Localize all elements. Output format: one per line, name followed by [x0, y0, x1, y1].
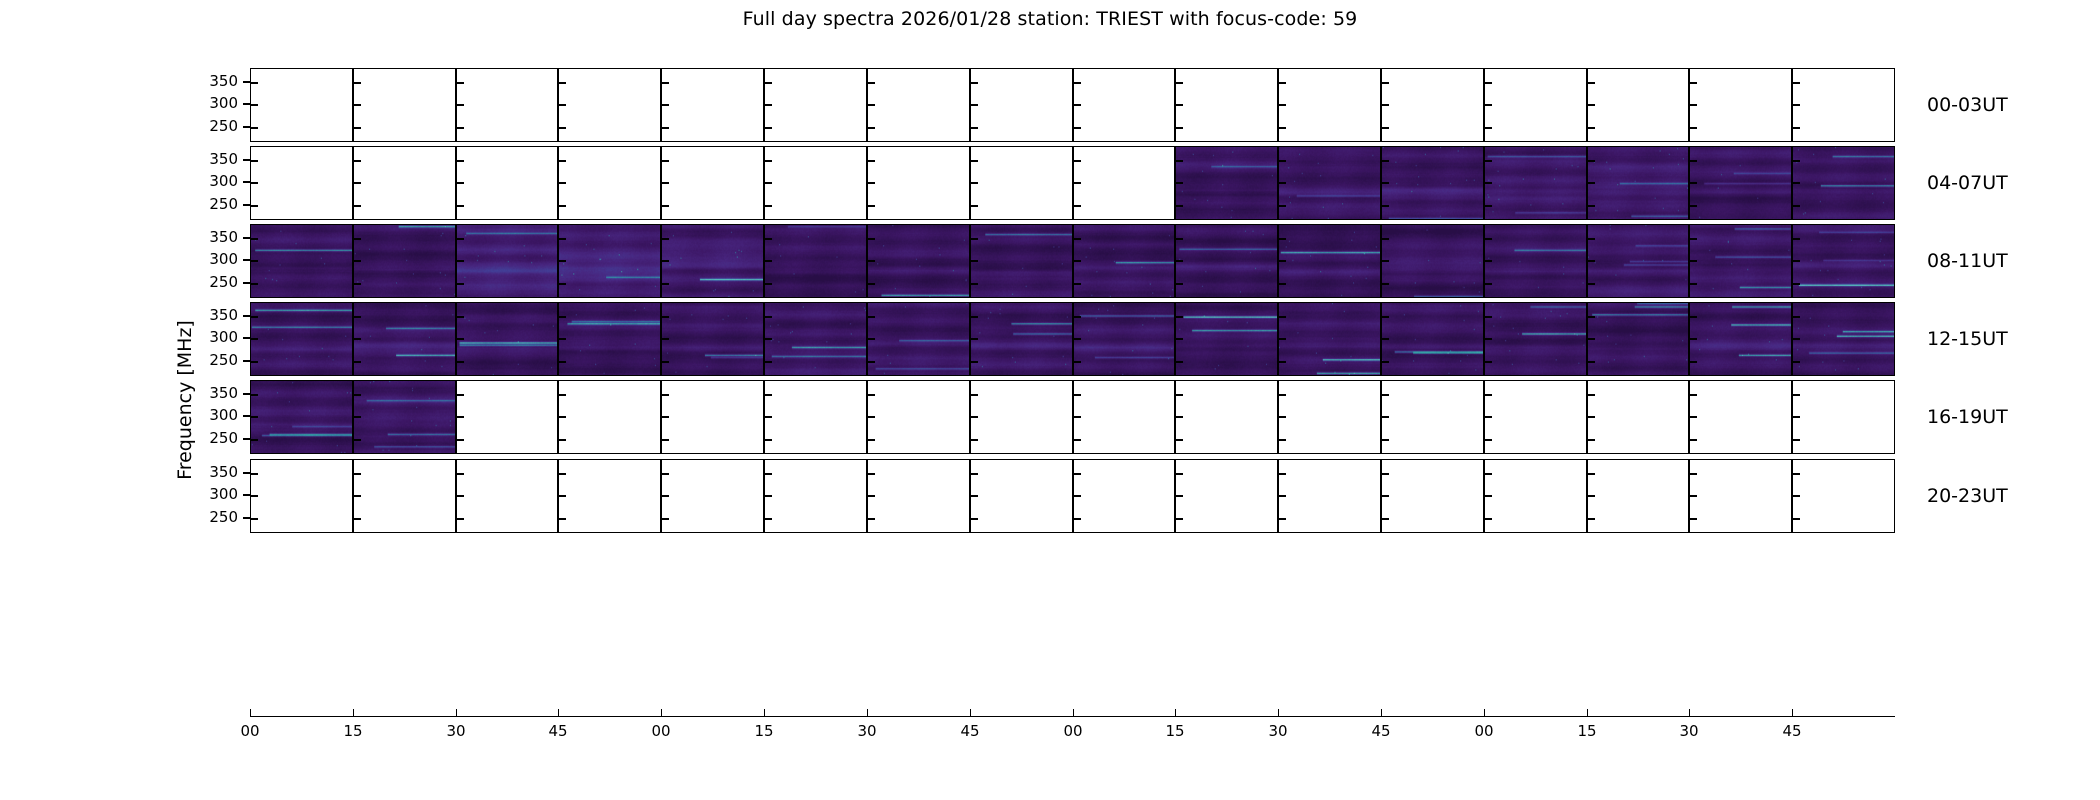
spectrogram-subpanel — [1381, 224, 1484, 298]
spectrogram-row — [250, 459, 1895, 533]
y-tick-mark — [251, 160, 258, 162]
y-tick-mark — [765, 127, 772, 129]
y-tick-mark — [1176, 439, 1183, 441]
y-tick-mark — [559, 439, 566, 441]
y-tick-mark — [765, 205, 772, 207]
y-tick-mark — [1588, 127, 1595, 129]
x-tick-label: 45 — [1371, 722, 1390, 740]
y-tick-mark — [354, 495, 361, 497]
y-tick-mark — [1793, 127, 1800, 129]
y-tick-mark — [559, 518, 566, 520]
y-tick-mark — [765, 495, 772, 497]
y-tick-mark — [1279, 518, 1286, 520]
spectrogram-subpanel — [867, 146, 970, 220]
y-tick-mark — [868, 104, 875, 106]
y-tick-mark — [1690, 160, 1697, 162]
y-tick-mark — [1690, 338, 1697, 340]
y-tick-mark — [662, 260, 669, 262]
spectrogram-subpanel — [1689, 68, 1792, 142]
spectrogram-subpanel — [1073, 68, 1175, 142]
spectrogram-subpanel — [1175, 224, 1278, 298]
spectrogram-subpanel — [1073, 459, 1175, 533]
spectrogram-subpanel — [970, 380, 1073, 454]
x-tick-mark — [867, 709, 868, 716]
y-tick-label: 250 — [209, 508, 238, 526]
y-tick-mark — [868, 338, 875, 340]
x-tick-mark — [1073, 709, 1074, 716]
y-tick-mark — [1382, 416, 1389, 418]
spectrogram-subpanel — [1484, 224, 1587, 298]
y-tick-mark — [765, 361, 772, 363]
x-axis-line — [250, 716, 1895, 717]
spectrogram-row — [250, 224, 1895, 298]
spectrogram-subpanel — [1792, 459, 1895, 533]
y-tick-mark — [1588, 316, 1595, 318]
spectrogram-image — [1588, 303, 1688, 375]
y-tick-mark — [354, 439, 361, 441]
x-tick-label: 00 — [1063, 722, 1082, 740]
y-tick-mark — [1382, 316, 1389, 318]
y-tick-mark — [971, 473, 978, 475]
spectrogram-image — [1382, 147, 1483, 219]
y-tick-mark — [1793, 283, 1800, 285]
y-tick-mark — [457, 495, 464, 497]
spectrogram-image — [1588, 147, 1688, 219]
y-tick-mark-outer — [243, 237, 250, 239]
y-tick-mark — [1588, 182, 1595, 184]
spectrogram-image — [1485, 147, 1586, 219]
y-tick-mark — [251, 182, 258, 184]
y-tick-label: 350 — [209, 463, 238, 481]
y-tick-mark — [1279, 205, 1286, 207]
y-tick-mark — [868, 495, 875, 497]
y-tick-mark — [559, 182, 566, 184]
spectrogram-subpanel — [764, 68, 867, 142]
y-tick-label: 350 — [209, 72, 238, 90]
y-tick-mark — [868, 283, 875, 285]
spectrogram-subpanel — [1278, 380, 1381, 454]
y-tick-mark — [1485, 182, 1492, 184]
spectrogram-subpanel — [456, 459, 558, 533]
x-tick-mark — [970, 709, 971, 716]
y-tick-mark — [1074, 260, 1081, 262]
y-tick-mark — [868, 416, 875, 418]
y-tick-mark — [559, 160, 566, 162]
y-tick-mark — [1793, 316, 1800, 318]
y-tick-mark — [559, 394, 566, 396]
y-tick-mark — [1690, 104, 1697, 106]
spectrogram-image — [765, 225, 866, 297]
y-tick-mark — [354, 473, 361, 475]
y-tick-mark — [1793, 416, 1800, 418]
y-tick-mark — [1074, 160, 1081, 162]
y-tick-mark-outer — [243, 438, 250, 440]
y-tick-mark — [765, 82, 772, 84]
y-tick-label: 300 — [209, 328, 238, 346]
y-tick-mark — [971, 238, 978, 240]
y-tick-mark — [1485, 104, 1492, 106]
y-tick-mark — [1793, 338, 1800, 340]
y-tick-mark — [1074, 182, 1081, 184]
y-tick-mark — [457, 518, 464, 520]
y-tick-mark — [1588, 473, 1595, 475]
y-tick-mark — [1588, 260, 1595, 262]
y-tick-mark — [559, 104, 566, 106]
spectrogram-image — [559, 303, 660, 375]
spectrogram-subpanel — [1073, 146, 1175, 220]
y-tick-mark — [457, 260, 464, 262]
y-tick-mark — [1382, 473, 1389, 475]
spectrogram-image — [559, 225, 660, 297]
x-tick-label: 45 — [1782, 722, 1801, 740]
y-tick-mark-outer — [243, 393, 250, 395]
row-time-label: 00-03UT — [1927, 94, 2008, 116]
y-tick-mark — [559, 338, 566, 340]
spectrogram-subpanel — [250, 459, 353, 533]
spectrogram-subpanel — [250, 146, 353, 220]
y-tick-mark — [251, 82, 258, 84]
x-tick-label: 00 — [651, 722, 670, 740]
y-tick-mark — [662, 473, 669, 475]
spectrogram-subpanel — [970, 224, 1073, 298]
y-tick-mark — [1690, 439, 1697, 441]
spectrogram-image — [971, 303, 1072, 375]
x-tick-mark — [250, 709, 251, 716]
spectrogram-image — [765, 303, 866, 375]
spectrogram-subpanel — [661, 146, 764, 220]
spectrogram-subpanel — [1792, 68, 1895, 142]
y-tick-mark — [457, 416, 464, 418]
spectrogram-subpanel — [1175, 68, 1278, 142]
y-tick-mark — [1588, 439, 1595, 441]
y-tick-mark — [1690, 127, 1697, 129]
spectrogram-subpanel — [353, 146, 456, 220]
spectrogram-subpanel — [353, 459, 456, 533]
figure-canvas: Full day spectra 2026/01/28 station: TRI… — [0, 0, 2100, 800]
y-tick-mark — [1382, 260, 1389, 262]
y-tick-mark — [971, 104, 978, 106]
spectrogram-subpanel — [1278, 146, 1381, 220]
y-tick-mark — [457, 473, 464, 475]
y-tick-mark — [868, 361, 875, 363]
y-tick-label: 300 — [209, 172, 238, 190]
y-tick-mark — [662, 416, 669, 418]
y-tick-mark — [251, 283, 258, 285]
y-tick-mark — [1382, 361, 1389, 363]
spectrogram-subpanel — [1689, 380, 1792, 454]
y-tick-mark — [1074, 205, 1081, 207]
spectrogram-image — [1382, 225, 1483, 297]
y-tick-mark — [559, 283, 566, 285]
y-tick-mark — [1176, 182, 1183, 184]
y-tick-label: 350 — [209, 150, 238, 168]
y-tick-mark — [765, 260, 772, 262]
y-tick-mark — [1382, 518, 1389, 520]
y-tick-mark — [971, 283, 978, 285]
y-tick-mark — [1690, 495, 1697, 497]
y-tick-label: 250 — [209, 351, 238, 369]
spectrogram-subpanel — [353, 380, 456, 454]
y-tick-mark — [971, 361, 978, 363]
y-tick-label: 250 — [209, 195, 238, 213]
y-tick-mark — [1793, 473, 1800, 475]
spectrogram-subpanel — [867, 68, 970, 142]
y-tick-mark — [1382, 238, 1389, 240]
y-tick-mark — [1279, 260, 1286, 262]
y-tick-mark — [1588, 518, 1595, 520]
y-tick-mark — [251, 316, 258, 318]
y-tick-mark — [1074, 495, 1081, 497]
y-tick-mark — [971, 394, 978, 396]
y-tick-mark — [1176, 283, 1183, 285]
y-tick-mark-outer — [243, 259, 250, 261]
y-tick-mark-outer — [243, 181, 250, 183]
y-tick-mark — [559, 495, 566, 497]
y-tick-mark — [251, 473, 258, 475]
x-tick-mark — [1792, 709, 1793, 716]
y-tick-label: 250 — [209, 429, 238, 447]
y-tick-mark — [1279, 473, 1286, 475]
y-tick-mark — [559, 205, 566, 207]
y-tick-mark — [251, 439, 258, 441]
spectrogram-subpanel — [1278, 459, 1381, 533]
y-tick-mark — [662, 361, 669, 363]
y-tick-mark — [971, 439, 978, 441]
y-tick-mark — [1485, 439, 1492, 441]
spectrogram-subpanel — [1381, 68, 1484, 142]
row-time-label: 08-11UT — [1927, 250, 2008, 272]
spectrogram-image — [251, 303, 352, 375]
y-tick-mark — [251, 104, 258, 106]
spectrogram-subpanel — [1381, 302, 1484, 376]
y-tick-mark — [868, 238, 875, 240]
y-tick-label: 300 — [209, 406, 238, 424]
y-tick-mark — [1485, 283, 1492, 285]
spectrogram-subpanel — [1175, 459, 1278, 533]
y-tick-mark — [251, 518, 258, 520]
y-tick-mark — [1485, 238, 1492, 240]
y-tick-mark — [1382, 205, 1389, 207]
y-tick-mark — [1588, 283, 1595, 285]
y-tick-mark-outer — [243, 282, 250, 284]
y-tick-mark — [559, 260, 566, 262]
y-tick-mark — [1074, 82, 1081, 84]
spectrogram-row — [250, 302, 1895, 376]
spectrogram-subpanel — [661, 380, 764, 454]
x-tick-label: 00 — [240, 722, 259, 740]
y-axis-label: Frequency [MHz] — [174, 320, 196, 480]
y-tick-mark — [1793, 160, 1800, 162]
x-tick-label: 30 — [446, 722, 465, 740]
y-tick-mark — [457, 316, 464, 318]
spectrogram-subpanel — [1175, 302, 1278, 376]
y-tick-mark — [251, 495, 258, 497]
spectrogram-image — [1176, 225, 1277, 297]
y-tick-mark — [1793, 394, 1800, 396]
y-tick-mark — [765, 104, 772, 106]
spectrogram-subpanel — [456, 146, 558, 220]
y-tick-mark — [1588, 361, 1595, 363]
row-time-label: 20-23UT — [1927, 485, 2008, 507]
spectrogram-subpanel — [456, 68, 558, 142]
y-tick-mark — [868, 182, 875, 184]
spectrogram-image — [1382, 303, 1483, 375]
page-title: Full day spectra 2026/01/28 station: TRI… — [0, 8, 2100, 30]
y-tick-mark — [354, 205, 361, 207]
y-tick-mark — [1176, 316, 1183, 318]
y-tick-label: 350 — [209, 306, 238, 324]
x-tick-label: 15 — [1165, 722, 1184, 740]
spectrogram-image — [457, 303, 557, 375]
y-tick-mark — [1793, 205, 1800, 207]
spectrogram-subpanel — [1175, 146, 1278, 220]
y-tick-mark — [1485, 160, 1492, 162]
spectrogram-image — [1485, 225, 1586, 297]
y-tick-mark — [662, 160, 669, 162]
y-tick-mark — [354, 182, 361, 184]
y-tick-mark — [971, 338, 978, 340]
y-tick-mark — [1690, 416, 1697, 418]
spectrogram-image — [971, 225, 1072, 297]
spectrogram-image — [1588, 225, 1688, 297]
y-tick-mark — [971, 182, 978, 184]
y-tick-mark — [1279, 283, 1286, 285]
y-tick-mark — [457, 82, 464, 84]
spectrogram-subpanel — [558, 380, 661, 454]
spectrogram-image — [868, 303, 969, 375]
y-tick-mark — [251, 260, 258, 262]
y-tick-label: 300 — [209, 485, 238, 503]
y-tick-mark — [1793, 495, 1800, 497]
spectrogram-row — [250, 380, 1895, 454]
y-tick-mark — [1176, 394, 1183, 396]
y-tick-mark — [662, 495, 669, 497]
y-tick-mark — [354, 283, 361, 285]
spectrogram-subpanel — [970, 146, 1073, 220]
spectrogram-subpanel — [867, 302, 970, 376]
spectrogram-image — [662, 303, 763, 375]
spectrogram-image — [1279, 225, 1380, 297]
y-tick-mark — [1485, 338, 1492, 340]
y-tick-mark — [662, 104, 669, 106]
y-tick-mark — [1588, 338, 1595, 340]
spectrogram-image — [457, 225, 557, 297]
y-tick-mark — [1279, 104, 1286, 106]
x-tick-label: 30 — [857, 722, 876, 740]
spectrogram-image — [868, 225, 969, 297]
y-tick-mark — [354, 361, 361, 363]
y-tick-mark — [868, 160, 875, 162]
y-tick-mark — [1279, 495, 1286, 497]
y-tick-mark — [1690, 260, 1697, 262]
y-tick-mark — [1074, 416, 1081, 418]
y-tick-mark — [765, 182, 772, 184]
spectrogram-subpanel — [353, 224, 456, 298]
y-tick-mark — [765, 238, 772, 240]
spectrogram-subpanel — [456, 224, 558, 298]
y-tick-mark — [1279, 338, 1286, 340]
x-tick-mark — [1278, 709, 1279, 716]
spectrogram-subpanel — [1381, 459, 1484, 533]
spectrogram-subpanel — [558, 459, 661, 533]
y-tick-mark — [868, 439, 875, 441]
spectrogram-subpanel — [1484, 302, 1587, 376]
spectrogram-subpanel — [970, 302, 1073, 376]
y-tick-mark — [765, 160, 772, 162]
spectrogram-subpanel — [1587, 146, 1689, 220]
y-tick-mark — [559, 127, 566, 129]
spectrogram-subpanel — [1587, 459, 1689, 533]
y-tick-mark — [251, 394, 258, 396]
y-tick-mark — [1279, 361, 1286, 363]
spectrogram-subpanel — [764, 380, 867, 454]
y-tick-mark — [765, 416, 772, 418]
y-tick-mark — [354, 127, 361, 129]
y-tick-mark — [868, 518, 875, 520]
y-tick-mark — [1793, 182, 1800, 184]
y-tick-mark — [354, 238, 361, 240]
x-tick-label: 15 — [754, 722, 773, 740]
y-tick-mark — [1793, 518, 1800, 520]
spectrogram-subpanel — [250, 68, 353, 142]
y-tick-mark — [1588, 205, 1595, 207]
y-tick-mark — [971, 205, 978, 207]
spectrogram-subpanel — [764, 146, 867, 220]
spectrogram-subpanel — [1278, 224, 1381, 298]
y-tick-mark — [1588, 495, 1595, 497]
y-tick-label: 250 — [209, 117, 238, 135]
y-tick-mark-outer — [243, 337, 250, 339]
y-tick-mark — [354, 160, 361, 162]
x-tick-label: 15 — [1577, 722, 1596, 740]
y-tick-mark — [559, 316, 566, 318]
spectrogram-image — [1485, 303, 1586, 375]
x-tick-mark — [353, 709, 354, 716]
y-tick-mark — [1074, 361, 1081, 363]
y-tick-mark — [1074, 316, 1081, 318]
y-tick-mark — [1279, 82, 1286, 84]
spectrogram-subpanel — [1689, 146, 1792, 220]
y-tick-mark — [1690, 238, 1697, 240]
y-tick-mark — [1382, 104, 1389, 106]
spectrogram-image — [1074, 225, 1174, 297]
y-tick-mark — [1176, 473, 1183, 475]
y-tick-mark — [971, 416, 978, 418]
y-tick-mark — [1382, 82, 1389, 84]
y-tick-mark — [662, 205, 669, 207]
y-tick-mark — [765, 338, 772, 340]
y-tick-mark — [354, 338, 361, 340]
y-tick-mark — [662, 394, 669, 396]
y-tick-mark — [1690, 473, 1697, 475]
y-tick-mark — [662, 82, 669, 84]
spectrogram-subpanel — [764, 224, 867, 298]
y-tick-mark — [868, 473, 875, 475]
y-tick-mark — [354, 260, 361, 262]
spectrogram-subpanel — [1792, 146, 1895, 220]
y-tick-mark — [1793, 260, 1800, 262]
x-tick-mark — [558, 709, 559, 716]
y-tick-mark — [1382, 495, 1389, 497]
y-tick-mark — [251, 205, 258, 207]
y-tick-mark — [1485, 473, 1492, 475]
y-tick-mark — [765, 473, 772, 475]
spectrogram-image — [1279, 147, 1380, 219]
y-tick-mark — [1485, 316, 1492, 318]
y-tick-mark — [1588, 104, 1595, 106]
y-tick-mark — [457, 182, 464, 184]
y-tick-mark — [1176, 495, 1183, 497]
